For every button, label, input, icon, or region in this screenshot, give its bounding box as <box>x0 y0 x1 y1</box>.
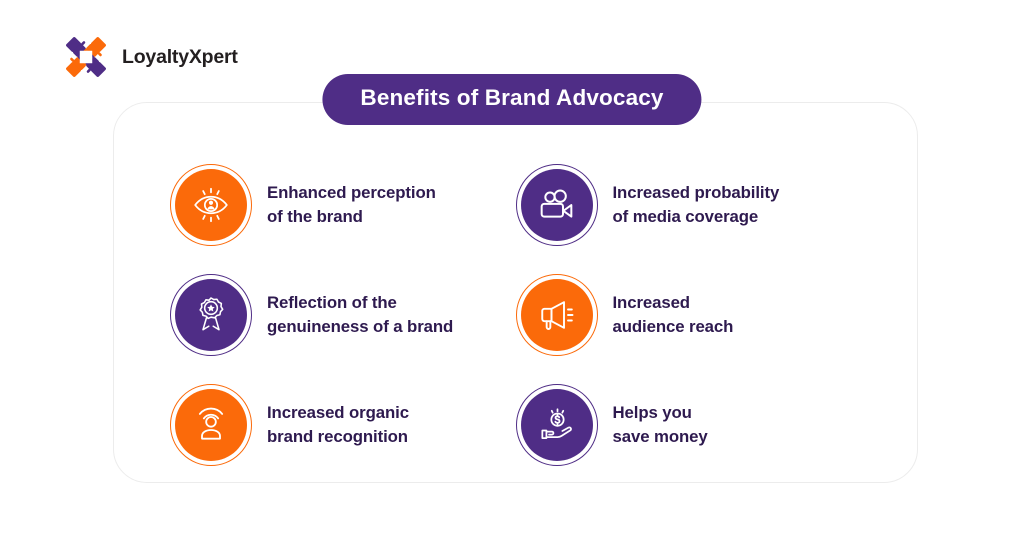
benefit-label: Helps you save money <box>613 401 708 450</box>
award-ribbon-star-icon <box>175 279 247 351</box>
eye-person-icon <box>175 169 247 241</box>
four-hands-pinwheel-logo-icon <box>60 31 112 83</box>
benefit-label: Increased organic brand recognition <box>267 401 409 450</box>
benefit-label: Increased audience reach <box>613 291 734 340</box>
benefit-item-organic-recognition: Increased organic brand recognition <box>175 370 521 480</box>
page-title: Benefits of Brand Advocacy <box>322 74 701 125</box>
benefits-grid: Enhanced perception of the brand Increas… <box>113 150 918 480</box>
brand-logo: LoyaltyXpert <box>60 31 238 83</box>
hand-holding-dollar-coin-icon <box>521 389 593 461</box>
benefit-item-media-coverage: Increased probability of media coverage <box>521 150 867 260</box>
brand-name: LoyaltyXpert <box>122 46 238 69</box>
benefit-label: Enhanced perception of the brand <box>267 181 436 230</box>
benefit-item-genuineness: Reflection of the genuineness of a brand <box>175 260 521 370</box>
benefit-item-save-money: Helps you save money <box>521 370 867 480</box>
benefit-label: Increased probability of media coverage <box>613 181 780 230</box>
benefit-item-enhanced-perception: Enhanced perception of the brand <box>175 150 521 260</box>
infographic-page: LoyaltyXpert Benefits of Brand Advocacy … <box>0 0 1024 536</box>
benefit-item-audience-reach: Increased audience reach <box>521 260 867 370</box>
video-camera-icon <box>521 169 593 241</box>
person-broadcast-icon <box>175 389 247 461</box>
benefit-label: Reflection of the genuineness of a brand <box>267 291 453 340</box>
megaphone-icon <box>521 279 593 351</box>
